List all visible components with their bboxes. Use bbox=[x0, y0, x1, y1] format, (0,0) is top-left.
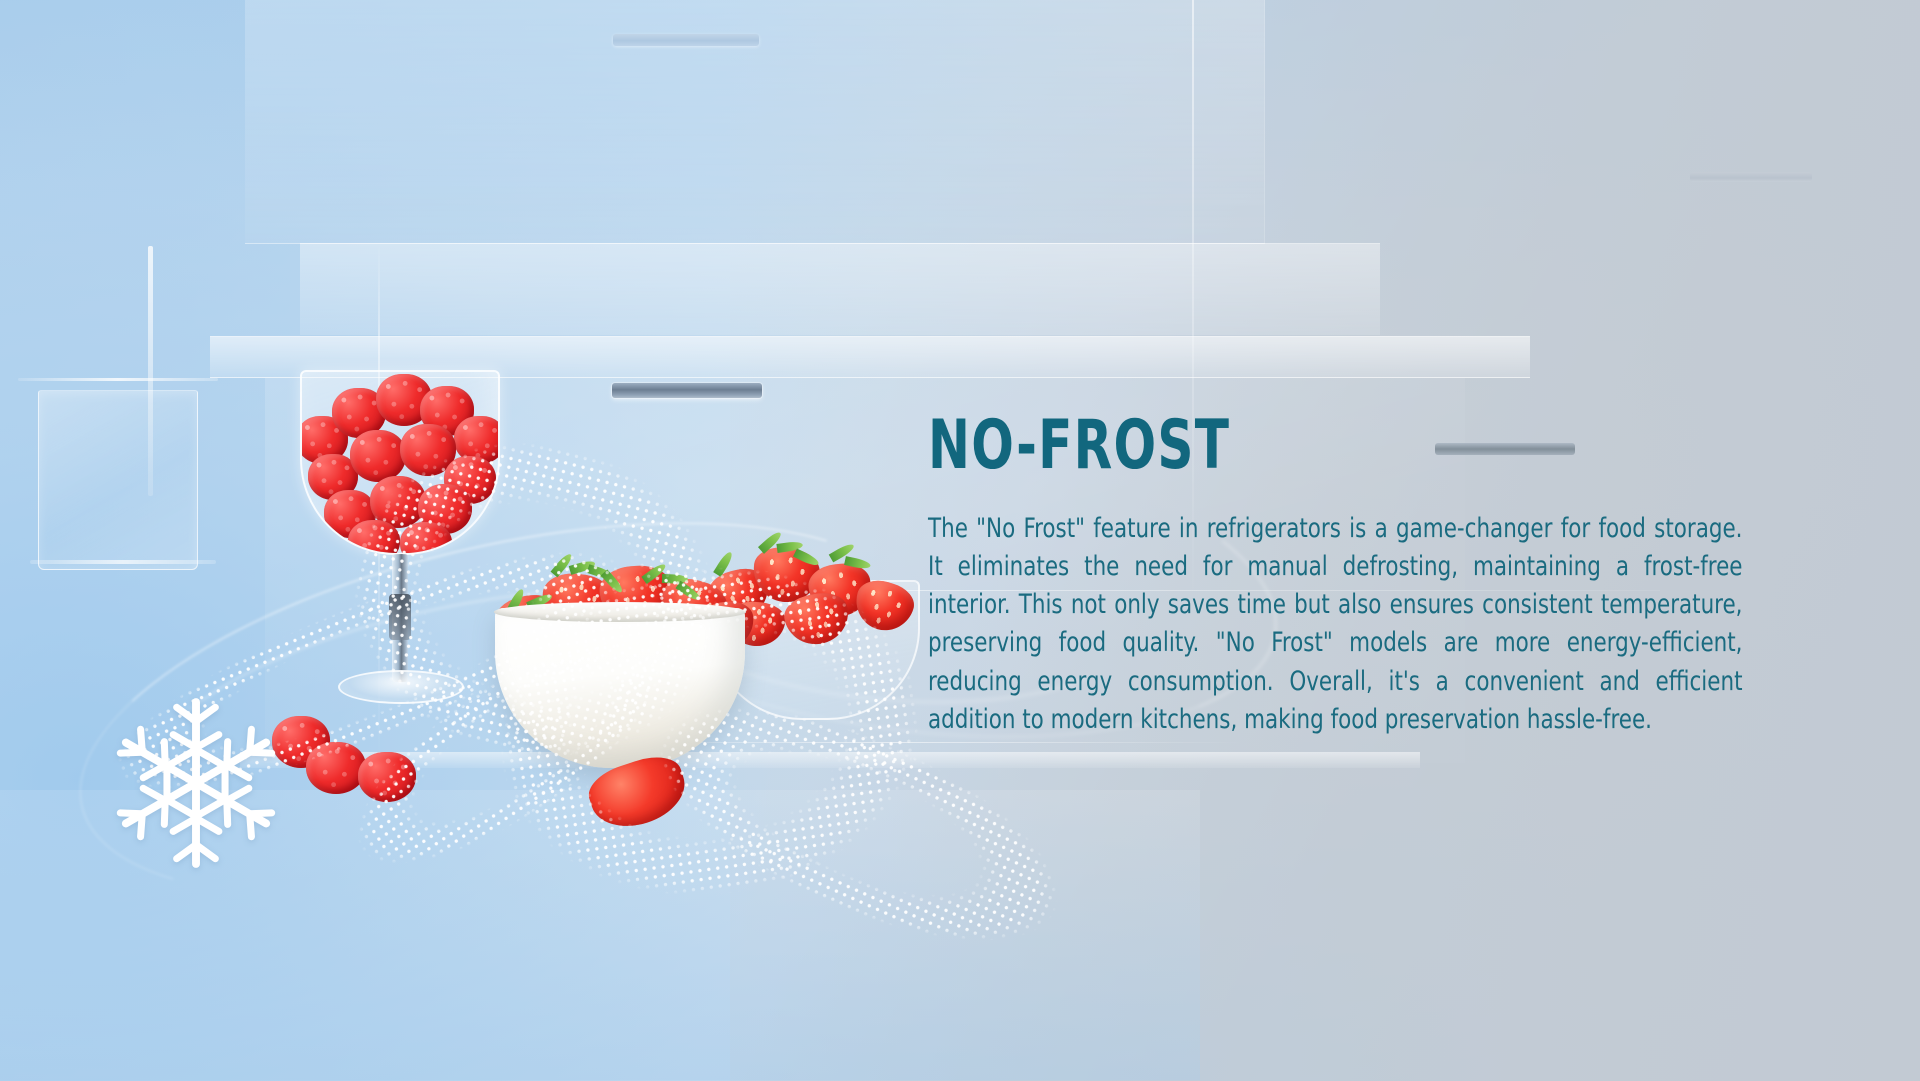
snowflake-icon bbox=[108, 694, 284, 872]
white-bowl-rim bbox=[494, 602, 746, 622]
no-frost-feature-banner: NO-FROST The "No Frost" feature in refri… bbox=[0, 0, 1920, 1081]
fridge-top-handle bbox=[613, 34, 759, 46]
fridge-right-handle bbox=[1690, 172, 1812, 182]
white-bowl bbox=[495, 608, 745, 768]
wine-glass-bowl bbox=[300, 370, 500, 555]
fruit-composition bbox=[280, 370, 920, 870]
door-bin-lip bbox=[18, 378, 218, 381]
page-title: NO-FROST bbox=[928, 412, 1600, 480]
wine-glass-stem bbox=[392, 554, 408, 682]
fridge-door-shelf-bin bbox=[38, 390, 198, 570]
feature-text-panel: NO-FROST The "No Frost" feature in refri… bbox=[928, 412, 1748, 739]
wine-glass-foot bbox=[338, 670, 464, 704]
feature-description: The "No Frost" feature in refrigerators … bbox=[928, 510, 1743, 739]
door-bin-rail bbox=[30, 560, 216, 564]
wine-glass-with-raspberries bbox=[300, 370, 500, 770]
